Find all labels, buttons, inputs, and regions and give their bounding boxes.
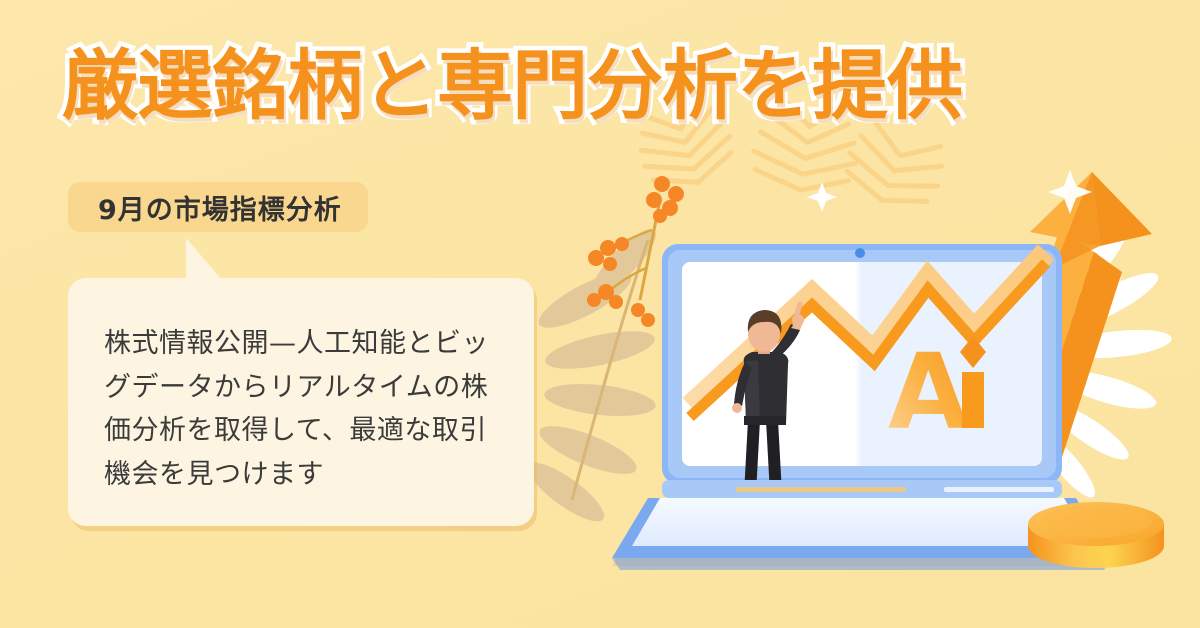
- coin-icon: [1028, 502, 1164, 568]
- promotional-banner: A: [0, 0, 1200, 628]
- laptop-camera-dot: [855, 248, 865, 258]
- svg-text:A: A: [888, 331, 969, 453]
- status-badge: 9月の市場指標分析: [68, 182, 368, 232]
- page-title: 厳選銘柄と専門分析を提供: [62, 48, 962, 124]
- speech-bubble-text: 株式情報公開—人工知能とビッグデータからリアルタイムの株価分析を取得して、最適な…: [104, 322, 506, 497]
- badge-label: 9月の市場指標分析: [98, 188, 342, 227]
- speech-bubble-tail: [186, 238, 222, 280]
